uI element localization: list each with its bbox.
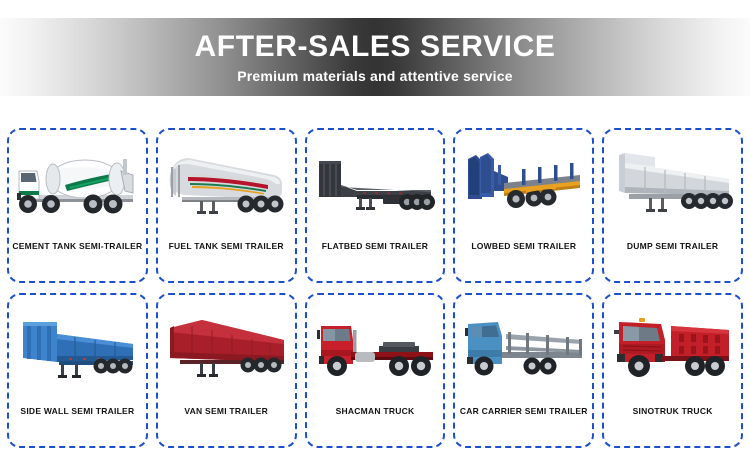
after-sales-service-page: AFTER-SALES SERVICE Premium materials an… bbox=[0, 0, 750, 462]
header-text-group: AFTER-SALES SERVICE Premium materials an… bbox=[0, 18, 750, 96]
lowbed-trailer-icon bbox=[455, 130, 592, 242]
product-label: SINOTRUK TRUCK bbox=[604, 407, 741, 416]
page-title: AFTER-SALES SERVICE bbox=[195, 32, 556, 62]
product-label: CEMENT TANK SEMI-TRAILER bbox=[9, 242, 146, 251]
side-wall-trailer-icon bbox=[9, 295, 146, 407]
page-subtitle: Premium materials and attentive service bbox=[237, 69, 512, 83]
car-carrier-truck-icon bbox=[455, 295, 592, 407]
product-card-dump-semi-trailer[interactable]: DUMP SEMI TRAILER bbox=[602, 128, 743, 283]
product-grid: CEMENT TANK SEMI-TRAILER bbox=[7, 128, 743, 448]
sinotruk-dump-truck-icon bbox=[604, 295, 741, 407]
product-label: SIDE WALL SEMI TRAILER bbox=[9, 407, 146, 416]
product-card-car-carrier-semi-trailer[interactable]: CAR CARRIER SEMI TRAILER bbox=[453, 293, 594, 448]
product-card-fuel-tank-semi-trailer[interactable]: FUEL TANK SEMI TRAILER bbox=[156, 128, 297, 283]
product-card-cement-tank-semi-trailer[interactable]: CEMENT TANK SEMI-TRAILER bbox=[7, 128, 148, 283]
product-label: FLATBED SEMI TRAILER bbox=[307, 242, 444, 251]
product-label: FUEL TANK SEMI TRAILER bbox=[158, 242, 295, 251]
product-card-side-wall-semi-trailer[interactable]: SIDE WALL SEMI TRAILER bbox=[7, 293, 148, 448]
fuel-tanker-trailer-icon bbox=[158, 130, 295, 242]
shacman-tractor-truck-icon bbox=[307, 295, 444, 407]
product-label: LOWBED SEMI TRAILER bbox=[455, 242, 592, 251]
header-gradient-banner: AFTER-SALES SERVICE Premium materials an… bbox=[0, 18, 750, 96]
product-card-lowbed-semi-trailer[interactable]: LOWBED SEMI TRAILER bbox=[453, 128, 594, 283]
flatbed-trailer-icon bbox=[307, 130, 444, 242]
cement-mixer-truck-icon bbox=[9, 130, 146, 242]
product-label: VAN SEMI TRAILER bbox=[158, 407, 295, 416]
product-card-van-semi-trailer[interactable]: VAN SEMI TRAILER bbox=[156, 293, 297, 448]
product-card-sinotruk-truck[interactable]: SINOTRUK TRUCK bbox=[602, 293, 743, 448]
product-card-shacman-truck[interactable]: SHACMAN TRUCK bbox=[305, 293, 446, 448]
header-section: AFTER-SALES SERVICE Premium materials an… bbox=[0, 0, 750, 112]
van-box-trailer-icon bbox=[158, 295, 295, 407]
product-card-flatbed-semi-trailer[interactable]: FLATBED SEMI TRAILER bbox=[305, 128, 446, 283]
product-label: SHACMAN TRUCK bbox=[307, 407, 444, 416]
product-label: CAR CARRIER SEMI TRAILER bbox=[455, 407, 592, 416]
product-label: DUMP SEMI TRAILER bbox=[604, 242, 741, 251]
dump-trailer-icon bbox=[604, 130, 741, 242]
